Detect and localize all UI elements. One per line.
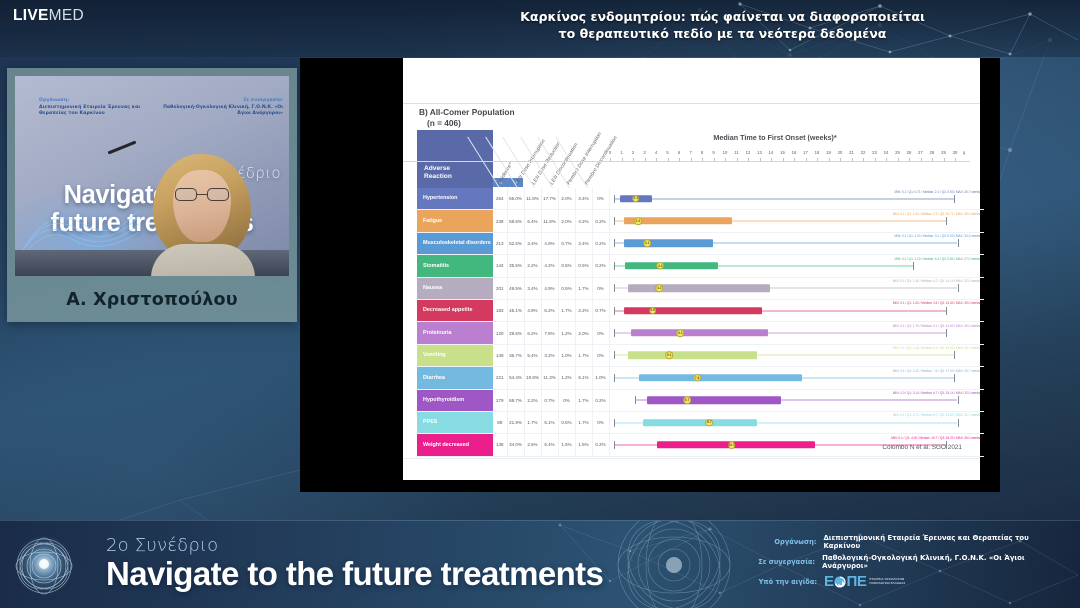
wave-decoration xyxy=(21,204,141,252)
cell-len-discontinuation: 0.7% xyxy=(559,233,576,254)
ar-header-line-2: Reaction xyxy=(424,173,493,181)
whisker-cap-min xyxy=(635,396,636,404)
cell-pembro-discontinuation: 0% xyxy=(593,188,610,209)
table-row: Fatigue23858.6%6.4%11.8%2.0%4.2%0.2%2.3M… xyxy=(417,210,984,232)
box-plot-stats-label: MIN: 2.0 / Q1: 3.14 / Median: 6.7 / Q3: … xyxy=(893,391,980,395)
median-marker: 4.2 xyxy=(655,284,663,292)
table-row: Decreased appetite18345.1%4.9%6.2%1.7%2.… xyxy=(417,300,984,322)
cell-len-reduction: 11.3% xyxy=(542,367,559,388)
axis-tick-16: 16 xyxy=(792,150,797,155)
credit-value-cooperation: Παθολογική-Ογκολογική Κλινική, Γ.Ο.Ν.Κ. … xyxy=(822,554,1066,570)
bottom-banner: 2ο Συνέδριο Navigate to the future treat… xyxy=(0,520,1080,608)
cell-incidence: 29.6% xyxy=(508,322,525,343)
ar-header-line-1: Adverse xyxy=(424,165,493,173)
axis-tick-27: 27 xyxy=(918,150,923,155)
cell-incidence: 34.0% xyxy=(508,434,525,455)
cell-len-interruption: 10.8% xyxy=(525,367,542,388)
slide-heading: B) All-Comer Population (n = 406) xyxy=(419,107,515,129)
axis-tick-15: 15 xyxy=(780,150,785,155)
cell-incidence: 54.4% xyxy=(508,367,525,388)
cell-len-discontinuation: 1.7% xyxy=(559,300,576,321)
iqr-box xyxy=(625,262,718,269)
axis-tick-8: 8 xyxy=(701,150,703,155)
axis-tick-9: 9 xyxy=(712,150,714,155)
cell-len-interruption: 4.9% xyxy=(525,300,542,321)
cell-len-reduction: 4.9% xyxy=(542,278,559,299)
box-plot: 6.1MIN: 0.1 / Q1: 1.70 / Median: 6.1 / Q… xyxy=(613,322,985,343)
adverse-reaction-rows: Hypertension26465.0%11.8%17.7%2.0%3.4%0%… xyxy=(417,188,984,457)
cell-incidence: 35.5% xyxy=(508,255,525,276)
axis-tick-18: 18 xyxy=(815,150,820,155)
median-marker: 3.6 xyxy=(649,307,657,315)
table-row: PPES8921.9%1.7%6.1%0.5%1.7%0%8.7MIN: 0.1… xyxy=(417,412,984,434)
cell-n: 264 xyxy=(493,188,508,209)
cell-pembro-discontinuation: 0.2% xyxy=(593,233,610,254)
box-plot: 3.6MIN: 0.1 / Q1: 1.00 / Median: 3.6 / Q… xyxy=(613,300,985,321)
median-marker: 5.1 xyxy=(665,352,673,360)
cell-pembro-discontinuation: 0% xyxy=(593,278,610,299)
cell-len-discontinuation: 1.2% xyxy=(559,367,576,388)
cell-pembro-discontinuation: 0.2% xyxy=(593,210,610,231)
cell-pembro-interruption: 1.5% xyxy=(576,434,593,455)
whisker-cap-min xyxy=(614,441,615,449)
whisker-cap-min xyxy=(614,239,615,247)
cell-pembro-interruption: 1.7% xyxy=(576,412,593,433)
speaker-name: Α. Χριστοπούλου xyxy=(7,277,297,322)
axis-tick-28: 28 xyxy=(930,150,935,155)
iqr-box xyxy=(657,441,815,448)
cell-pembro-interruption: 0.5% xyxy=(576,255,593,276)
cell-incidence: 36.7% xyxy=(508,345,525,366)
table-row: Nausea20149.5%3.4%4.9%0.5%1.7%0%4.2MIN: … xyxy=(417,278,984,300)
axis-tick-19: 19 xyxy=(826,150,831,155)
cell-pembro-interruption: 3.4% xyxy=(576,233,593,254)
cell-len-interruption: 6.4% xyxy=(525,210,542,231)
eope-subtitle: ΕΤΑΙΡΕΙΑ ΟΓΚΟΛΟΓΩΝ ΠΑΘΟΛΟΓΩΝ ΕΛΛΑΔΑΣ xyxy=(869,578,905,585)
box-plot: 6.7MIN: 2.0 / Q1: 3.14 / Median: 6.7 / Q… xyxy=(613,390,985,411)
box-plot: 5.1MIN: 0.1 / Q1: 1.43 / Median: 5.1 / Q… xyxy=(613,345,985,366)
whisker-cap-max xyxy=(958,284,959,292)
speaker-torso xyxy=(151,244,255,276)
axis-tick-extra: q xyxy=(963,150,965,155)
cell-n: 201 xyxy=(493,278,508,299)
table-row: Proteinuria12029.6%6.2%7.8%1.2%2.0%0%6.1… xyxy=(417,322,984,344)
slide-citation: Colombo N et al. SGO 2021 xyxy=(882,444,962,451)
credit-row-organization: Οργάνωση: Διεπιστημονική Εταιρεία Έρευνα… xyxy=(746,534,1066,550)
box-plot: 7.6MIN: 0.1 / Q1: 2.42 / Median: 7.6 / Q… xyxy=(613,367,985,388)
whisker-cap-max xyxy=(958,419,959,427)
axis-tick-11: 11 xyxy=(734,150,738,155)
axis-tick-14: 14 xyxy=(769,150,774,155)
speaker-person xyxy=(147,148,259,276)
cell-n: 279 xyxy=(493,390,508,411)
axis-tick-1: 1 xyxy=(620,150,622,155)
iqr-box xyxy=(647,397,781,404)
axis-baseline xyxy=(403,161,970,162)
whisker-cap-max xyxy=(954,374,955,382)
box-plot-stats-label: MIN: 0.1 / Q1: 1.70 / Median: 6.1 / Q3: … xyxy=(893,324,980,328)
lecture-title: Καρκίνος ενδομητρίου: πώς φαίνεται να δι… xyxy=(440,8,1005,42)
large-orb-decoration xyxy=(608,520,740,608)
cell-pembro-interruption: 1.7% xyxy=(576,278,593,299)
iqr-box xyxy=(628,285,770,292)
cell-pembro-discontinuation: 0% xyxy=(593,345,610,366)
cell-pembro-interruption: 2.0% xyxy=(576,322,593,343)
median-marker: 4.3 xyxy=(657,262,665,270)
spiral-icon xyxy=(834,576,846,588)
iqr-box xyxy=(643,419,758,426)
median-marker: 6.7 xyxy=(683,396,691,404)
cell-len-interruption: 3.4% xyxy=(525,278,542,299)
box-plot-stats-label: MIN: 0.1 / Q1: 1.00 / Median: 2.3 / Q3: … xyxy=(893,212,980,216)
cell-n: 89 xyxy=(493,412,508,433)
iqr-box xyxy=(624,240,713,247)
iqr-box xyxy=(631,329,768,336)
cell-len-interruption: 3.4% xyxy=(525,233,542,254)
cell-len-discontinuation: 1.5% xyxy=(559,434,576,455)
whisker-cap-max xyxy=(946,329,947,337)
table-row: Diarrhea22154.4%10.8%11.3%1.2%6.1%1.0%7.… xyxy=(417,367,984,389)
cell-len-discontinuation: 1.2% xyxy=(559,322,576,343)
cell-len-reduction: 6.2% xyxy=(542,300,559,321)
cell-adverse-reaction: Musculoskeletal disorders xyxy=(417,233,493,254)
cell-n: 120 xyxy=(493,322,508,343)
cell-pembro-interruption: 4.2% xyxy=(576,210,593,231)
credit-value-organization: Διεπιστημονική Εταιρεία Έρευνας και Θερα… xyxy=(823,534,1066,550)
axis-tick-3: 3 xyxy=(643,150,645,155)
cell-len-reduction: 11.8% xyxy=(542,210,559,231)
cell-len-interruption: 11.8% xyxy=(525,188,542,209)
whisker-cap-min xyxy=(614,195,615,203)
footer-credits: Οργάνωση: Διεπιστημονική Εταιρεία Έρευνα… xyxy=(746,534,1066,594)
box-plot: 4.3MIN: 0.1 / Q1: 1.10 / Median: 4.3 / Q… xyxy=(613,255,985,276)
cell-adverse-reaction: Hypertension xyxy=(417,188,493,209)
whisker-cap-min xyxy=(614,307,615,315)
footer-main-title: Navigate to the future treatments xyxy=(106,555,603,593)
cell-incidence: 52.5% xyxy=(508,233,525,254)
logo-live-text: LIVE xyxy=(13,7,49,24)
axis-tick-7: 7 xyxy=(689,150,691,155)
axis-tick-4: 4 xyxy=(655,150,657,155)
cell-len-discontinuation: 0.5% xyxy=(559,412,576,433)
cell-adverse-reaction: PPES xyxy=(417,412,493,433)
axis-tick-26: 26 xyxy=(907,150,912,155)
whisker-cap-max xyxy=(958,396,959,404)
cell-len-discontinuation: 2.0% xyxy=(559,210,576,231)
video-coop-credit: Σε συνεργασία: Παθολογική-Ογκολογική Κλι… xyxy=(163,98,283,118)
credit-row-cooperation: Σε συνεργασία: Παθολογική-Ογκολογική Κλι… xyxy=(746,554,1066,570)
whisker-cap-min xyxy=(614,262,615,270)
cell-len-reduction: 0.7% xyxy=(542,390,559,411)
table-row: Vomiting14936.7%5.4%3.2%1.0%1.7%0%5.1MIN… xyxy=(417,345,984,367)
box-plot-stats-label: MIN: 0.1 / Q1: 1.40 / Median: 4.2 / Q3: … xyxy=(893,279,980,283)
lecture-title-line-1: Καρκίνος ενδομητρίου: πώς φαίνεται να δι… xyxy=(440,8,1005,25)
eope-letter-e: E xyxy=(824,573,834,590)
logo-med-text: MED xyxy=(49,7,84,24)
cell-pembro-interruption: 2.2% xyxy=(576,300,593,321)
cell-len-reduction: 6.1% xyxy=(542,412,559,433)
credit-row-auspices: Υπό την αιγίδα: E ΠΕ ΕΤΑΙΡΕΙΑ ΟΓΚΟΛΟΓΩΝ … xyxy=(746,573,1066,590)
whisker-cap-min xyxy=(614,351,615,359)
box-plot-stats-label: MIN: 0.1 / Q1: 1.10 / Median: 4.3 / Q3: … xyxy=(895,257,981,261)
livemed-logo[interactable]: LIVEMED xyxy=(13,7,84,25)
cell-len-interruption: 6.2% xyxy=(525,322,542,343)
cell-adverse-reaction: Proteinuria xyxy=(417,322,493,343)
axis-tick-30: 30 xyxy=(953,150,958,155)
whisker-line xyxy=(614,198,955,199)
speaker-face xyxy=(173,170,231,242)
cell-incidence: 21.9% xyxy=(508,412,525,433)
whisker-cap-max xyxy=(913,262,914,270)
axis-tick-29: 29 xyxy=(941,150,946,155)
median-marker: 3.1 xyxy=(643,240,651,248)
cell-adverse-reaction: Stomatitis xyxy=(417,255,493,276)
cell-n: 238 xyxy=(493,210,508,231)
cell-pembro-discontinuation: 0% xyxy=(593,322,610,343)
slide-stage[interactable]: B) All-Comer Population (n = 406) Advers… xyxy=(300,58,1000,492)
cell-pembro-interruption: 6.1% xyxy=(576,367,593,388)
cell-len-reduction: 17.7% xyxy=(542,188,559,209)
cell-len-reduction: 4.2% xyxy=(542,255,559,276)
whisker-cap-max xyxy=(954,351,955,359)
cell-incidence: 58.6% xyxy=(508,210,525,231)
top-bar: LIVEMED Καρκίνος ενδομητρίου: πώς φαίνετ… xyxy=(0,0,1080,57)
cell-len-interruption: 5.4% xyxy=(525,345,542,366)
axis-tick-17: 17 xyxy=(803,150,808,155)
axis-tick-22: 22 xyxy=(861,150,866,155)
cell-pembro-interruption: 3.4% xyxy=(576,188,593,209)
cell-len-interruption: 2.2% xyxy=(525,390,542,411)
cell-adverse-reaction: Nausea xyxy=(417,278,493,299)
cell-pembro-discontinuation: 0.2% xyxy=(593,255,610,276)
table-row: Hypertension26465.0%11.8%17.7%2.0%3.4%0%… xyxy=(417,188,984,210)
median-marker: 2.3 xyxy=(634,217,642,225)
axis-tick-6: 6 xyxy=(678,150,680,155)
median-marker: 2.1 xyxy=(632,195,640,203)
cell-len-discontinuation: 2.0% xyxy=(559,188,576,209)
box-plot-stats-label: MIN: 0.1 / Q1: 2.71 / Median: 8.7 / Q3: … xyxy=(893,413,980,417)
cell-adverse-reaction: Fatigue xyxy=(417,210,493,231)
video-org-value: Διεπιστημονική Εταιρεία Έρευνας και Θερα… xyxy=(39,105,140,116)
cell-adverse-reaction: Diarrhea xyxy=(417,367,493,388)
table-row: Musculoskeletal disorders21352.5%3.4%4.9… xyxy=(417,233,984,255)
table-row: Stomatitis14435.5%2.2%4.2%0.5%0.5%0.2%4.… xyxy=(417,255,984,277)
cell-len-discontinuation: 0.5% xyxy=(559,255,576,276)
cell-incidence: 65.0% xyxy=(508,188,525,209)
box-plot: 4.2MIN: 0.1 / Q1: 1.40 / Median: 4.2 / Q… xyxy=(613,278,985,299)
eope-logo[interactable]: E ΠΕ ΕΤΑΙΡΕΙΑ ΟΓΚΟΛΟΓΩΝ ΠΑΘΟΛΟΓΩΝ ΕΛΛΑΔΑ… xyxy=(824,573,905,590)
box-plot: 2.1MIN: 0.1 / Q1: 0.71 / Median: 2.1 / Q… xyxy=(613,188,985,209)
cell-len-discontinuation: 0.5% xyxy=(559,278,576,299)
axis-tick-5: 5 xyxy=(666,150,668,155)
cell-n: 149 xyxy=(493,345,508,366)
eope-wordmark: E ΠΕ xyxy=(824,573,866,590)
cell-pembro-discontinuation: 0% xyxy=(593,412,610,433)
axis-tick-24: 24 xyxy=(884,150,889,155)
cell-len-reduction: 7.8% xyxy=(542,322,559,343)
video-org-credit: Οργάνωση: Διεπιστημονική Εταιρεία Έρευνα… xyxy=(39,98,151,118)
box-plot-stats-label: MIN: 0.1 / Q1: 4.00 / Median: 10.7 / Q3:… xyxy=(891,436,980,440)
box-plot-stats-label: MIN: 0.1 / Q1: 0.71 / Median: 2.1 / Q3: … xyxy=(895,190,981,194)
slide-top-divider xyxy=(403,103,980,104)
box-plot: 3.1MIN: 0.1 / Q1: 1.00 / Median: 3.1 / Q… xyxy=(613,233,985,254)
cell-incidence: 49.5% xyxy=(508,278,525,299)
whisker-cap-min xyxy=(614,374,615,382)
axis-tick-10: 10 xyxy=(723,150,728,155)
cell-n: 144 xyxy=(493,255,508,276)
axis-tick-0: 0 xyxy=(609,150,611,155)
credit-label-cooperation: Σε συνεργασία: xyxy=(746,558,822,566)
footer-conference-number: 2ο Συνέδριο xyxy=(106,535,218,556)
box-plot: 8.7MIN: 0.1 / Q1: 2.71 / Median: 8.7 / Q… xyxy=(613,412,985,433)
cell-pembro-interruption: 1.7% xyxy=(576,345,593,366)
video-org-label: Οργάνωση: xyxy=(39,98,151,104)
cell-len-interruption: 2.2% xyxy=(525,255,542,276)
cell-len-interruption: 2.5% xyxy=(525,434,542,455)
whisker-cap-max xyxy=(958,239,959,247)
cell-pembro-interruption: 1.7% xyxy=(576,390,593,411)
slide-heading-main: B) All-Comer Population xyxy=(419,107,515,117)
slide-bottom-divider xyxy=(403,458,980,459)
box-plot: 2.3MIN: 0.1 / Q1: 1.00 / Median: 2.3 / Q… xyxy=(613,210,985,231)
box-plot-stats-label: MIN: 0.1 / Q1: 1.00 / Median: 3.1 / Q3: … xyxy=(895,234,981,238)
cell-n: 138 xyxy=(493,434,508,455)
cell-len-interruption: 1.7% xyxy=(525,412,542,433)
cell-len-reduction: 3.2% xyxy=(542,345,559,366)
axis-tick-13: 13 xyxy=(757,150,762,155)
cell-len-discontinuation: 1.0% xyxy=(559,345,576,366)
credit-label-organization: Οργάνωση: xyxy=(746,538,823,546)
iqr-box xyxy=(639,374,801,381)
credit-label-auspices: Υπό την αιγίδα: xyxy=(746,578,824,586)
median-marker: 8.7 xyxy=(706,419,714,427)
video-coop-label: Σε συνεργασία: xyxy=(163,98,283,104)
speaker-video-feed[interactable]: Οργάνωση: Διεπιστημονική Εταιρεία Έρευνα… xyxy=(15,76,289,276)
axis-tick-20: 20 xyxy=(838,150,843,155)
median-marker: 7.6 xyxy=(693,374,701,382)
presentation-slide: B) All-Comer Population (n = 406) Advers… xyxy=(403,58,980,480)
axis-tick-12: 12 xyxy=(746,150,751,155)
cell-n: 183 xyxy=(493,300,508,321)
median-marker: 6.1 xyxy=(677,329,685,337)
video-coop-value: Παθολογική-Ογκολογική Κλινική, Γ.Ο.Ν.Κ. … xyxy=(163,105,283,116)
cell-len-reduction: 4.9% xyxy=(542,233,559,254)
axis-tick-21: 21 xyxy=(849,150,854,155)
iqr-box xyxy=(624,307,762,314)
median-marker: 10.7 xyxy=(728,441,736,449)
speaker-panel[interactable]: Οργάνωση: Διεπιστημονική Εταιρεία Έρευνα… xyxy=(7,68,297,322)
whisker-cap-max xyxy=(946,307,947,315)
cell-len-discontinuation: 0% xyxy=(559,390,576,411)
box-plot-stats-label: MIN: 0.1 / Q1: 1.00 / Median: 3.6 / Q3: … xyxy=(893,301,980,305)
box-plot-stats-label: MIN: 0.1 / Q1: 1.43 / Median: 5.1 / Q3: … xyxy=(893,346,980,350)
cell-pembro-discontinuation: 0.2% xyxy=(593,390,610,411)
whisker-cap-min xyxy=(614,329,615,337)
axis-tick-25: 25 xyxy=(895,150,900,155)
eope-letters-pe: ΠΕ xyxy=(847,573,867,590)
cell-len-reduction: 5.4% xyxy=(542,434,559,455)
whisker-cap-min xyxy=(614,217,615,225)
axis-tick-23: 23 xyxy=(872,150,877,155)
iqr-box xyxy=(628,352,757,359)
axis-title: Median Time to First Onset (weeks)* xyxy=(610,133,940,142)
eyeglasses-icon xyxy=(175,188,229,201)
box-plot-stats-label: MIN: 0.1 / Q1: 2.42 / Median: 7.6 / Q3: … xyxy=(893,369,980,373)
cell-n: 221 xyxy=(493,367,508,388)
column-header-0: Incidence* xyxy=(496,162,514,186)
cell-incidence: 68.7% xyxy=(508,390,525,411)
whisker-cap-max xyxy=(946,217,947,225)
cell-adverse-reaction: Vomiting xyxy=(417,345,493,366)
whisker-cap-min xyxy=(614,419,615,427)
cell-n: 213 xyxy=(493,233,508,254)
whisker-cap-max xyxy=(954,195,955,203)
cell-pembro-discontinuation: 0.2% xyxy=(593,434,610,455)
table-row: Hypothyroidism27968.7%2.2%0.7%0%1.7%0.2%… xyxy=(417,390,984,412)
cell-pembro-discontinuation: 1.0% xyxy=(593,367,610,388)
whisker-cap-min xyxy=(614,284,615,292)
cell-adverse-reaction: Hypothyroidism xyxy=(417,390,493,411)
cell-pembro-discontinuation: 0.7% xyxy=(593,300,610,321)
axis-tick-2: 2 xyxy=(632,150,634,155)
cell-adverse-reaction: Weight decreased xyxy=(417,434,493,455)
lecture-title-line-2: το θεραπευτικό πεδίο με τα νεότερα δεδομ… xyxy=(440,25,1005,42)
conference-orb-logo xyxy=(8,530,80,602)
cell-incidence: 45.1% xyxy=(508,300,525,321)
cell-adverse-reaction: Decreased appetite xyxy=(417,300,493,321)
